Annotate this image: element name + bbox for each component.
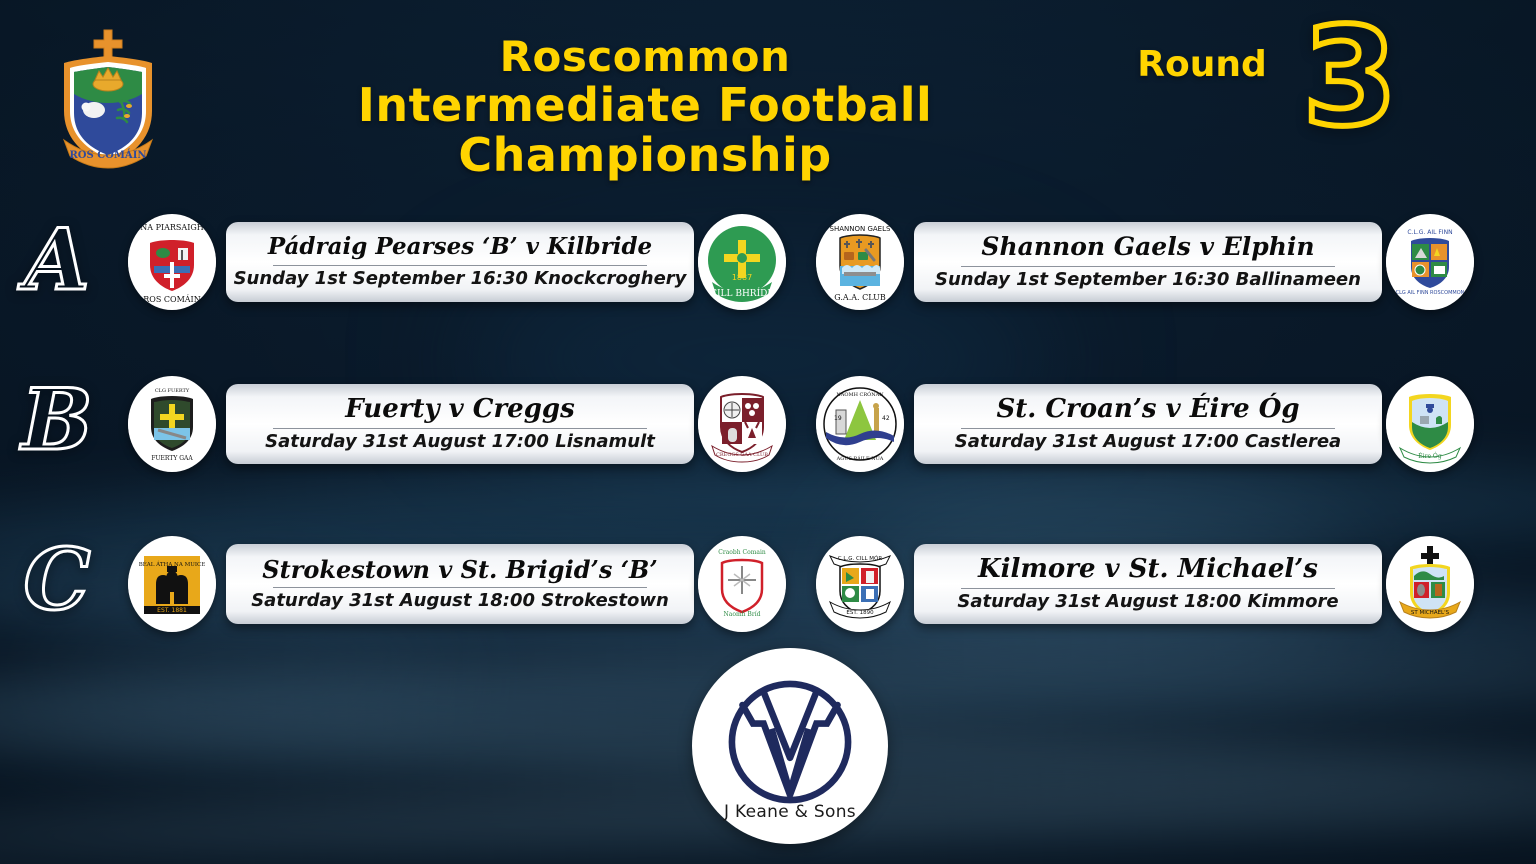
round-label: Round — [1112, 44, 1292, 85]
padraig-pearses-crest: NA PIARSAIGH ROS COMÁIN — [128, 214, 216, 310]
fixture-card[interactable]: Pádraig Pearses ‘B’ v Kilbride Sunday 1s… — [226, 222, 694, 302]
poster-stage: ROS COMÁIN Roscommon Intermediate Footba… — [0, 0, 1536, 864]
kilbride-crest: 1887 CILL BHRÍDE — [698, 214, 786, 310]
svg-text:C.L.G. CILL MÓR: C.L.G. CILL MÓR — [838, 555, 883, 562]
fixture-row: CLG FUERTY FUERTY GAA Fuerty v Creggs Sa… — [128, 376, 786, 472]
svg-text:FUERTY GAA: FUERTY GAA — [151, 455, 193, 462]
fixture-teams: St. Croan’s v Éire Óg — [996, 396, 1299, 423]
fixture-teams: Pádraig Pearses ‘B’ v Kilbride — [268, 235, 652, 259]
svg-text:G.A.A. CLUB: G.A.A. CLUB — [834, 293, 886, 302]
svg-text:CREGGS GAA CLUB: CREGGS GAA CLUB — [716, 452, 768, 458]
fixture-row: BÉAL ÁTHA NA MUICE EST. 1881 Strokestown… — [128, 536, 786, 632]
fixture-card[interactable]: Fuerty v Creggs Saturday 31st August 17:… — [226, 384, 694, 464]
divider — [961, 266, 1334, 267]
svg-text:C.L.G. AIL FINN: C.L.G. AIL FINN — [1407, 229, 1452, 236]
divider — [273, 428, 646, 429]
shannon-gaels-crest: SHANNON GAELS G.A.A. CLUB — [816, 214, 904, 310]
svg-text:SHANNON GAELS: SHANNON GAELS — [830, 225, 891, 233]
divider — [961, 428, 1334, 429]
divider — [273, 265, 646, 266]
st-croans-crest: NAOMH CRÓNÁN 19 42 AGUS BÁILE NUA — [816, 376, 904, 472]
svg-text:EST. 1881: EST. 1881 — [157, 607, 187, 614]
svg-text:ST MICHAEL'S: ST MICHAEL'S — [1411, 610, 1450, 616]
fixture-row: SHANNON GAELS G.A.A. CLUB Shannon Gaels … — [816, 214, 1472, 310]
fixture-row: NA PIARSAIGH ROS COMÁIN Pádraig Pearses … — [128, 214, 786, 310]
sponsor-name: J Keane & Sons — [724, 802, 856, 822]
volkswagen-logo — [724, 676, 856, 808]
fixture-details: Saturday 31st August 17:00 Lisnamult — [265, 433, 655, 452]
fixture-details: Saturday 31st August 18:00 Kimmore — [957, 593, 1338, 612]
svg-text:CLG AIL FINN ROSCOMMON: CLG AIL FINN ROSCOMMON — [1396, 290, 1465, 296]
title-line-competition-name: Intermediate Football Championship — [170, 81, 1120, 180]
svg-text:19: 19 — [834, 415, 842, 422]
divider — [273, 587, 646, 588]
svg-text:NA PIARSAIGH: NA PIARSAIGH — [140, 223, 203, 232]
st-michaels-crest: ST MICHAEL'S — [1386, 536, 1474, 632]
title-line-competition-county: Roscommon — [170, 34, 1120, 79]
svg-text:EST. 1890: EST. 1890 — [846, 610, 874, 616]
svg-text:AGUS BÁILE NUA: AGUS BÁILE NUA — [836, 455, 884, 462]
svg-text:NAOMH CRÓNÁN: NAOMH CRÓNÁN — [836, 390, 884, 398]
svg-text:Éire Óg: Éire Óg — [1418, 452, 1442, 460]
fixture-card[interactable]: Kilmore v St. Michael’s Saturday 31st Au… — [914, 544, 1382, 624]
svg-text:1887: 1887 — [732, 273, 752, 282]
svg-text:Naomh Bríd: Naomh Bríd — [724, 611, 761, 618]
svg-text:ROS COMÁIN: ROS COMÁIN — [69, 149, 146, 161]
svg-text:ROS COMÁIN: ROS COMÁIN — [143, 295, 200, 304]
fixture-details: Sunday 1st September 16:30 Knockcroghery — [234, 270, 687, 289]
fixture-details: Sunday 1st September 16:30 Ballinameen — [935, 271, 1361, 290]
eire-og-crest: Éire Óg — [1386, 376, 1474, 472]
svg-text:CLG FUERTY: CLG FUERTY — [155, 388, 190, 394]
elphin-crest: C.L.G. AIL FINN CLG AIL FINN ROSCOMMON — [1386, 214, 1474, 310]
fuerty-crest: CLG FUERTY FUERTY GAA — [128, 376, 216, 472]
fixture-teams: Kilmore v St. Michael’s — [978, 556, 1318, 583]
fixture-card[interactable]: St. Croan’s v Éire Óg Saturday 31st Augu… — [914, 384, 1382, 464]
fixture-card[interactable]: Strokestown v St. Brigid’s ‘B’ Saturday … — [226, 544, 694, 624]
fixture-card[interactable]: Shannon Gaels v Elphin Sunday 1st Septem… — [914, 222, 1382, 302]
svg-text:Craobh Comain: Craobh Comain — [718, 549, 766, 556]
creggs-crest: CREGGS GAA CLUB — [698, 376, 786, 472]
group-letter-c: C — [12, 538, 102, 622]
sponsor-badge[interactable]: J Keane & Sons — [692, 648, 888, 844]
svg-text:42: 42 — [882, 415, 890, 422]
fixture-row: NAOMH CRÓNÁN 19 42 AGUS BÁILE NUA St. Cr… — [816, 376, 1472, 472]
svg-text:CILL BHRÍDE: CILL BHRÍDE — [710, 287, 774, 299]
group-letter-b: B — [12, 378, 102, 462]
fixture-details: Saturday 31st August 17:00 Castlerea — [955, 433, 1341, 452]
fixture-teams: Shannon Gaels v Elphin — [981, 234, 1314, 260]
round-number: 3 — [1290, 10, 1410, 146]
fixture-teams: Strokestown v St. Brigid’s ‘B’ — [262, 557, 657, 582]
kilmore-crest: C.L.G. CILL MÓR EST. 1890 — [816, 536, 904, 632]
group-letter-a: A — [12, 218, 102, 302]
fixture-teams: Fuerty v Creggs — [345, 396, 574, 423]
roscommon-gaa-crest: ROS COMÁIN — [48, 22, 168, 172]
st-brigids-crest: Craobh Comain Naomh Bríd — [698, 536, 786, 632]
fixture-details: Saturday 31st August 18:00 Strokestown — [251, 592, 669, 611]
divider — [961, 588, 1334, 589]
fixture-row: C.L.G. CILL MÓR EST. 1890 Kilmore v St. … — [816, 536, 1472, 632]
page-title: Roscommon Intermediate Football Champion… — [170, 34, 1120, 181]
strokestown-crest: BÉAL ÁTHA NA MUICE EST. 1881 — [128, 536, 216, 632]
